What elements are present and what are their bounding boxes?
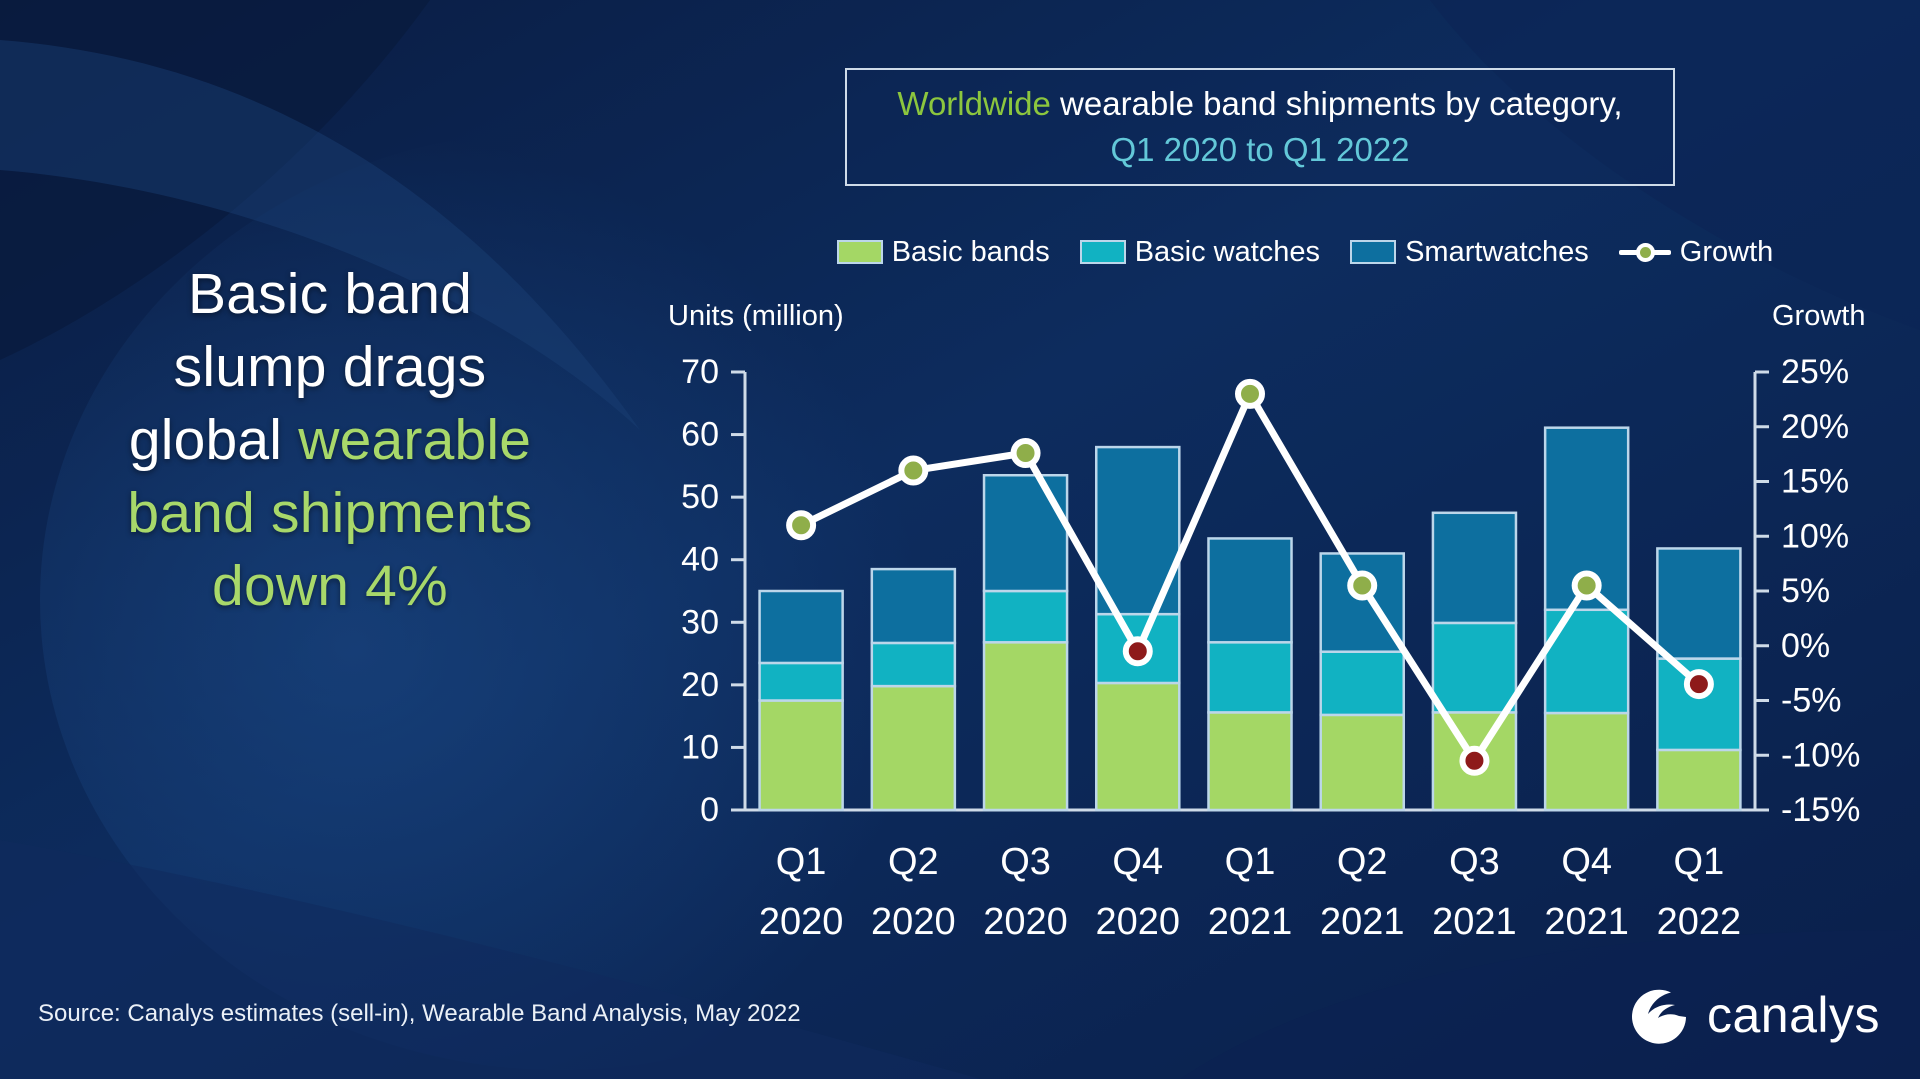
left-axis-tick-label: 10 [681, 728, 719, 766]
bar-segment-smartwatches[interactable] [872, 569, 955, 643]
growth-point-marker[interactable] [1126, 639, 1150, 663]
x-axis-tick-label: 2021 [1208, 901, 1293, 943]
bar-segment-basic-bands[interactable] [1657, 750, 1740, 810]
growth-point-marker[interactable] [901, 459, 925, 483]
x-axis-tick-label: 2020 [1096, 901, 1181, 943]
left-axis-tick-label: 40 [681, 541, 719, 579]
x-axis-tick-label: Q2 [1337, 841, 1388, 883]
bar-segment-basic-bands[interactable] [1208, 712, 1291, 810]
x-axis-tick-label: 2022 [1657, 901, 1742, 943]
left-axis-tick-label: 70 [681, 353, 719, 391]
x-axis-tick-label: 2020 [871, 901, 956, 943]
x-axis-tick-label: 2021 [1432, 901, 1517, 943]
bar-segment-basic-bands[interactable] [872, 686, 955, 810]
left-axis-tick-label: 50 [681, 478, 719, 516]
x-axis-tick-label: 2020 [759, 901, 844, 943]
bar-segment-basic-watches[interactable] [760, 663, 843, 701]
left-axis-tick-label: 30 [681, 603, 719, 641]
canalys-logo-text: canalys [1707, 986, 1880, 1044]
x-axis-tick-label: Q1 [1674, 841, 1725, 883]
left-axis-tick-label: 20 [681, 666, 719, 704]
chart-plot-area: 70605040302010025%20%15%10%5%0%-5%-10%-1… [0, 0, 1920, 1079]
bar-segment-basic-watches[interactable] [1433, 623, 1516, 712]
canalys-swoosh-icon [1631, 983, 1695, 1047]
bar-segment-basic-bands[interactable] [1545, 713, 1628, 810]
bar-segment-basic-watches[interactable] [984, 591, 1067, 642]
bar-segment-smartwatches[interactable] [760, 591, 843, 663]
growth-point-marker[interactable] [1014, 441, 1038, 465]
bar-segment-smartwatches[interactable] [984, 475, 1067, 591]
growth-point-marker[interactable] [1462, 749, 1486, 773]
right-axis-tick-label: -15% [1781, 791, 1860, 829]
bar-segment-basic-watches[interactable] [1208, 642, 1291, 712]
bar-segment-basic-watches[interactable] [1321, 652, 1404, 715]
source-note: Source: Canalys estimates (sell-in), Wea… [38, 1000, 801, 1028]
growth-point-marker[interactable] [1238, 382, 1262, 406]
x-axis-tick-label: Q1 [776, 841, 827, 883]
x-axis-tick-label: Q4 [1112, 841, 1163, 883]
bar-segment-basic-bands[interactable] [1096, 683, 1179, 810]
x-axis-tick-label: Q3 [1000, 841, 1051, 883]
x-axis-tick-label: 2021 [1544, 901, 1629, 943]
right-axis-tick-label: 0% [1781, 627, 1830, 665]
left-axis-tick-label: 60 [681, 416, 719, 454]
bar-segment-basic-bands[interactable] [984, 642, 1067, 810]
bar-segment-basic-watches[interactable] [872, 643, 955, 686]
bar-segment-smartwatches[interactable] [1208, 538, 1291, 642]
right-axis-tick-label: 25% [1781, 353, 1849, 391]
bar-group[interactable] [1208, 538, 1291, 810]
x-axis-tick-label: Q1 [1225, 841, 1276, 883]
bar-segment-basic-bands[interactable] [1321, 715, 1404, 810]
bar-group[interactable] [984, 475, 1067, 810]
canalys-logo: canalys [1631, 983, 1880, 1047]
right-axis-tick-label: 20% [1781, 408, 1849, 446]
bar-group[interactable] [872, 569, 955, 810]
growth-point-marker[interactable] [789, 513, 813, 537]
growth-point-marker[interactable] [1575, 574, 1599, 598]
growth-point-marker[interactable] [1350, 574, 1374, 598]
right-axis-tick-label: 10% [1781, 517, 1849, 555]
x-axis-tick-label: 2021 [1320, 901, 1405, 943]
bar-segment-smartwatches[interactable] [1433, 513, 1516, 623]
x-axis-tick-label: Q3 [1449, 841, 1500, 883]
right-axis-tick-label: -5% [1781, 682, 1841, 720]
right-axis-tick-label: 5% [1781, 572, 1830, 610]
x-axis-tick-label: Q4 [1561, 841, 1612, 883]
x-axis-tick-label: 2020 [983, 901, 1068, 943]
growth-point-marker[interactable] [1687, 672, 1711, 696]
bar-segment-smartwatches[interactable] [1657, 548, 1740, 658]
bar-group[interactable] [1096, 447, 1179, 810]
right-axis-tick-label: -10% [1781, 736, 1860, 774]
bar-group[interactable] [760, 591, 843, 810]
bar-group[interactable] [1545, 428, 1628, 810]
x-axis-tick-label: Q2 [888, 841, 939, 883]
bar-segment-basic-bands[interactable] [760, 701, 843, 811]
right-axis-tick-label: 15% [1781, 463, 1849, 501]
left-axis-tick-label: 0 [700, 791, 719, 829]
